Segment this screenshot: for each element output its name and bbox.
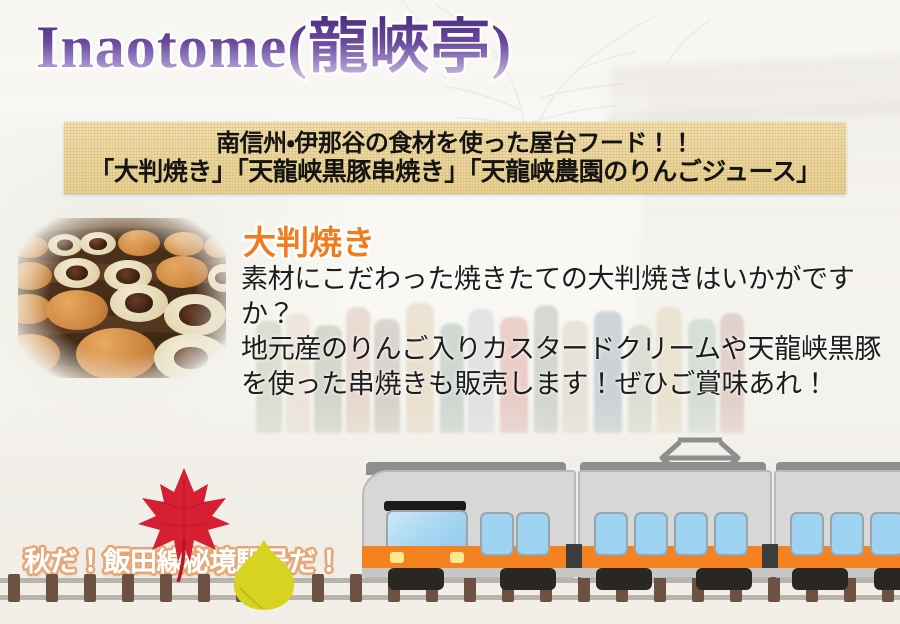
page-title: Inaotome(龍峽亭) [36, 16, 512, 79]
section-heading: 大判焼き [243, 216, 375, 264]
train-car-rear [774, 470, 900, 578]
maple-leaf-icon [136, 462, 232, 582]
headline-banner: 南信州・伊那谷の食材を使った屋台フード！！ 「大判焼き」「天龍峡黒豚串焼き」「天… [64, 122, 846, 194]
train-illustration [352, 448, 900, 594]
banner-line-1: 南信州・伊那谷の食材を使った屋台フード！！ [216, 129, 694, 157]
section-body-text: 素材にこだわった焼きたての大判焼きはいかがですか？ 地元産のりんご入りカスタード… [241, 262, 891, 402]
imagawayaki-photo [18, 218, 226, 378]
poster-canvas: Inaotome(龍峽亭) Inaotome(龍峽亭) 南信州・伊那谷の食材を使… [0, 0, 900, 624]
train-car-front [362, 470, 576, 578]
train-car-middle [578, 470, 772, 578]
banner-line-2: 「大判焼き」「天龍峡黒豚串焼き」「天龍峡農園のりんごジュース」 [89, 157, 821, 187]
ginkgo-leaf-icon [228, 538, 300, 614]
